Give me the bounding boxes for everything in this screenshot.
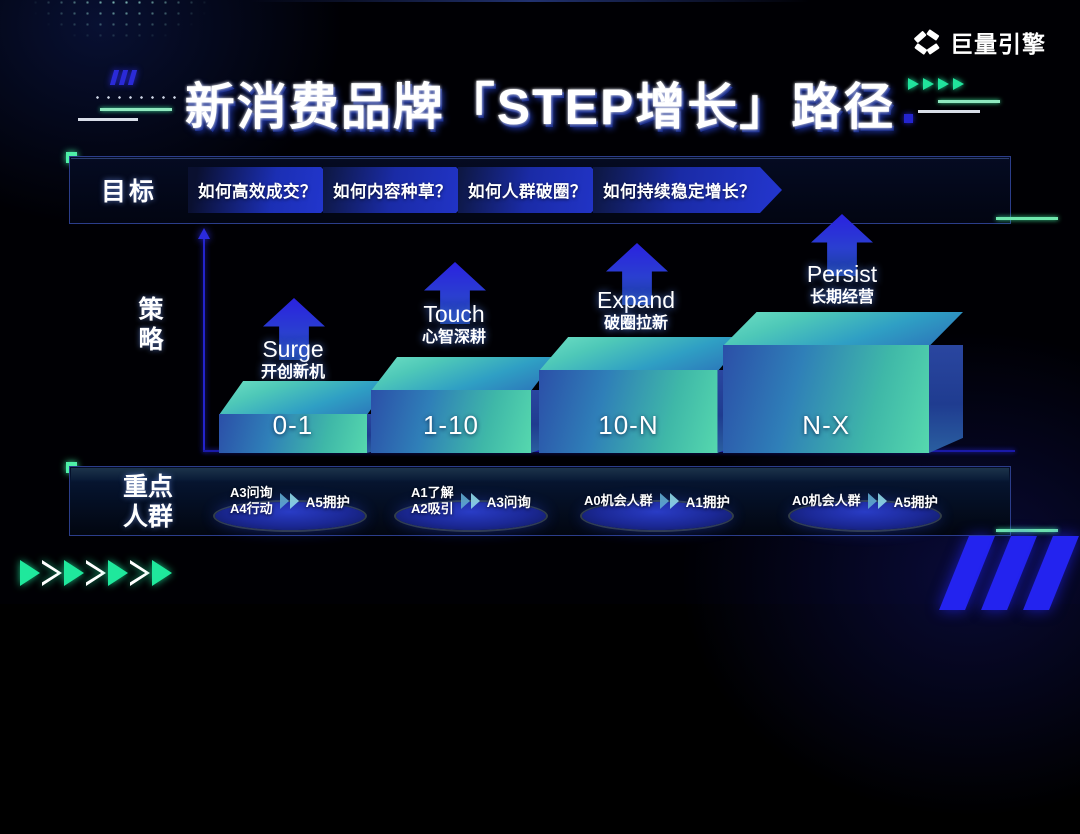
strategy-block-4-side: [929, 345, 963, 453]
goal-step-1-label: 如何高效成交？: [198, 178, 317, 202]
audience-group-4-from-line1: A0机会人群: [792, 493, 861, 508]
double-chevron-icon: [660, 493, 679, 509]
strategy-axis-vertical: [203, 236, 205, 452]
double-chevron-icon: [868, 493, 887, 509]
audience-group-1[interactable]: A3问询 A4行动 A5拥护: [200, 470, 380, 532]
ocean-engine-pinwheel-icon: [914, 29, 941, 56]
strategy-arrow-3-icon: [606, 243, 668, 305]
strategy-block-4-top: [723, 312, 963, 346]
strategy-block-2-top: [371, 357, 557, 391]
strategy-block-3-value: 10-N: [539, 410, 718, 441]
strategy-block-3-cn: 破圈拉新: [516, 313, 756, 335]
strategy-block-2-value: 1-10: [371, 410, 531, 441]
double-chevron-icon: [280, 493, 299, 509]
goal-step-list: 如何高效成交？ 如何内容种草？ 如何人群破圈？ 如何持续稳定增长？: [188, 167, 1010, 213]
goal-step-2[interactable]: 如何内容种草？: [323, 167, 478, 213]
goal-step-4[interactable]: 如何持续稳定增长？: [593, 167, 782, 213]
audience-group-4[interactable]: A0机会人群 A5拥护: [770, 470, 960, 532]
strategy-block-4[interactable]: N-X: [723, 312, 963, 453]
audience-group-2-to: A3问询: [487, 491, 531, 511]
audience-frame-green-accent: [996, 529, 1058, 532]
audience-group-3-from: A0机会人群: [584, 493, 653, 509]
strategy-block-3[interactable]: 10-N: [539, 337, 747, 453]
audience-group-1-from: A3问询 A4行动: [230, 485, 273, 518]
audience-group-4-from: A0机会人群: [792, 493, 861, 509]
audience-group-2[interactable]: A1了解 A2吸引 A3问询: [381, 470, 561, 532]
bottom-left-triangles-icon: [20, 560, 172, 586]
goal-step-2-label: 如何内容种草？: [333, 178, 452, 202]
audience-group-3[interactable]: A0机会人群 A1拥护: [562, 470, 752, 532]
audience-group-2-from: A1了解 A2吸引: [411, 485, 454, 518]
audience-group-1-from-line2: A4行动: [230, 501, 273, 516]
strategy-block-4-cn: 长期经营: [722, 287, 962, 309]
audience-group-3-to: A1拥护: [686, 491, 730, 511]
goal-step-4-label: 如何持续稳定增长？: [603, 178, 756, 202]
audience-group-1-from-line1: A3问询: [230, 485, 273, 500]
page-title: 新消费品牌「STEP增长」路径: [185, 67, 896, 139]
goal-step-3[interactable]: 如何人群破圈？: [458, 167, 613, 213]
strategy-arrow-2-icon: [424, 262, 486, 324]
strategy-arrow-1-icon: [263, 298, 325, 360]
goal-section-label: 目标: [70, 172, 188, 208]
audience-label-line1: 重点: [123, 473, 173, 501]
page-title-row: 新消费品牌「STEP增长」路径: [0, 64, 1080, 142]
audience-label-line2: 人群: [123, 503, 173, 531]
audience-group-4-to: A5拥护: [894, 491, 938, 511]
brand-logo: 巨量引擎: [914, 25, 1046, 59]
goal-frame-green-accent: [996, 217, 1058, 220]
strategy-block-3-top: [539, 337, 747, 371]
strategy-block-1-value: 0-1: [219, 410, 367, 441]
goal-step-1[interactable]: 如何高效成交？: [188, 167, 343, 213]
bottom-right-slashes-icon: [954, 536, 1064, 610]
strategy-block-2-cn: 心智深耕: [334, 327, 574, 349]
strategy-section-label: 策略: [126, 296, 176, 355]
double-chevron-icon: [461, 493, 480, 509]
strategy-axis-arrow-icon: [198, 228, 210, 239]
strategy-block-2[interactable]: 1-10: [371, 357, 557, 453]
brand-logo-text: 巨量引擎: [950, 25, 1046, 59]
audience-group-2-from-line2: A2吸引: [411, 501, 454, 516]
audience-group-1-to: A5拥护: [306, 491, 350, 511]
audience-section-label: 重点 人群: [110, 473, 186, 532]
strategy-arrow-4-icon: [811, 214, 873, 276]
audience-group-3-from-line1: A0机会人群: [584, 493, 653, 508]
strategy-block-4-value: N-X: [723, 410, 929, 441]
goal-step-3-label: 如何人群破圈？: [468, 178, 587, 202]
top-divider-line: [250, 0, 810, 2]
audience-group-2-from-line1: A1了解: [411, 485, 454, 500]
strategy-block-1[interactable]: 0-1: [219, 381, 391, 453]
